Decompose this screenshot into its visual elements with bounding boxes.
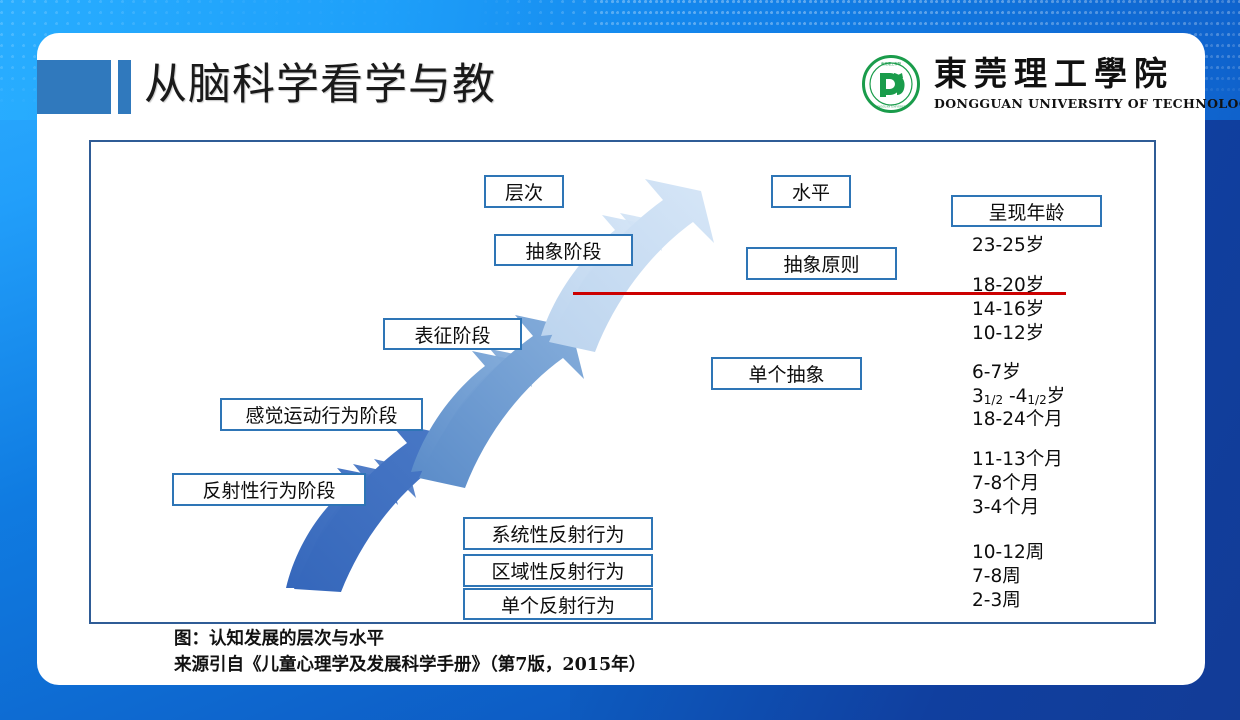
column-header-level: 层次 bbox=[484, 175, 564, 208]
age-label: 6-7岁 bbox=[972, 361, 1021, 385]
header-accent-bar bbox=[118, 60, 131, 114]
age-label: 7-8周 bbox=[972, 565, 1021, 589]
age-frac-sub1: 1/2 bbox=[984, 393, 1003, 407]
age-label: 18-24个月 bbox=[972, 408, 1063, 432]
caption-line-1: 图：认知发展的层次与水平 bbox=[174, 626, 646, 652]
age-frac-sub2: 1/2 bbox=[1027, 393, 1046, 407]
age-label: 2-3周 bbox=[972, 589, 1021, 613]
age-label-fraction: 31/2 -41/2岁 bbox=[972, 385, 1065, 410]
age-label: 14-16岁 bbox=[972, 298, 1044, 322]
level-box-abstract-stage: 抽象阶段 bbox=[494, 234, 633, 266]
age-label: 23-25岁 bbox=[972, 234, 1044, 258]
caption-line-2: 来源引自《儿童心理学及发展科学手册》（第7版，2015年） bbox=[174, 652, 646, 678]
level-box-sensorimotor-stage: 感觉运动行为阶段 bbox=[220, 398, 423, 431]
column-header-age: 呈现年龄 bbox=[951, 195, 1102, 227]
tier-box-regional-reflex: 区域性反射行为 bbox=[463, 554, 653, 587]
age-label: 10-12周 bbox=[972, 541, 1044, 565]
university-name-cn: 東莞理工學院 bbox=[934, 52, 1174, 96]
svg-text:DONGGUAN UNIVERSITY: DONGGUAN UNIVERSITY bbox=[874, 106, 908, 109]
age-frac-mid: -4 bbox=[1003, 386, 1027, 407]
page-title: 从脑科学看学与教 bbox=[144, 54, 496, 116]
tier-box-single-abstraction: 单个抽象 bbox=[711, 357, 862, 390]
level-box-reflexive-stage: 反射性行为阶段 bbox=[172, 473, 366, 506]
age-label: 10-12岁 bbox=[972, 322, 1044, 346]
age-label: 11-13个月 bbox=[972, 448, 1063, 472]
column-header-horizontal: 水平 bbox=[771, 175, 851, 208]
university-logo: 東莞理工學院 DONGGUAN UNIVERSITY 東莞理工學院 DONGGU… bbox=[862, 55, 1174, 117]
university-name-en: DONGGUAN UNIVERSITY OF TECHNOLOGY bbox=[934, 97, 1240, 111]
age-label: 18-20岁 bbox=[972, 274, 1044, 298]
tier-box-single-reflex: 单个反射行为 bbox=[463, 588, 653, 620]
age-label: 3-4个月 bbox=[972, 496, 1039, 520]
age-frac-tail: 岁 bbox=[1047, 386, 1066, 407]
age-frac-whole1: 3 bbox=[972, 386, 984, 407]
age-label: 7-8个月 bbox=[972, 472, 1039, 496]
tier-box-systemic-reflex: 系统性反射行为 bbox=[463, 517, 653, 550]
header-accent-block bbox=[37, 60, 111, 114]
svg-text:東莞理工學院: 東莞理工學院 bbox=[881, 61, 902, 66]
tier-box-abstract-principle: 抽象原则 bbox=[746, 247, 897, 280]
figure-caption: 图：认知发展的层次与水平 来源引自《儿童心理学及发展科学手册》（第7版，2015… bbox=[174, 626, 646, 678]
level-box-representation-stage: 表征阶段 bbox=[383, 318, 522, 350]
university-emblem-icon: 東莞理工學院 DONGGUAN UNIVERSITY bbox=[862, 55, 920, 113]
presentation-slide: 从脑科学看学与教 東莞理工學院 DONGGUAN UNIVERSITY 東莞理工… bbox=[0, 0, 1240, 720]
